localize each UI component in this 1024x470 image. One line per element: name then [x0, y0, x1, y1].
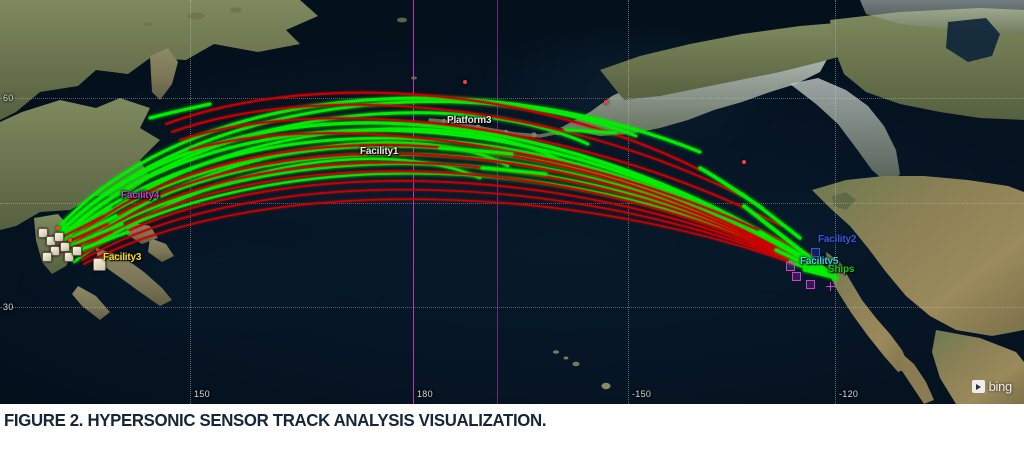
sensor-box-marker[interactable] [792, 272, 801, 281]
label-facility2[interactable]: Facility2 [818, 234, 856, 245]
label-platform3[interactable]: Platform3 [447, 115, 491, 126]
bing-attribution[interactable]: bing [972, 379, 1012, 394]
figure-caption: FIGURE 2. HYPERSONIC SENSOR TRACK ANALYS… [4, 410, 546, 431]
ships-marker[interactable] [826, 282, 835, 291]
label-ships[interactable]: Ships [828, 264, 854, 275]
track-origin-dot[interactable] [68, 238, 72, 242]
label-facility1[interactable]: Facility1 [360, 146, 398, 157]
launch-site-marker[interactable] [54, 232, 64, 242]
launch-site-marker[interactable] [72, 246, 82, 256]
track-waypoint-dot[interactable] [742, 160, 746, 164]
figure-container: 150 180 -150 -120 60 30 [0, 0, 1024, 470]
track-origin-dot[interactable] [56, 226, 60, 230]
sensor-box-marker[interactable] [806, 280, 815, 289]
track-waypoint-dot[interactable] [604, 100, 608, 104]
label-facility3[interactable]: Facility3 [103, 252, 141, 263]
launch-site-marker[interactable] [42, 252, 52, 262]
launch-site-marker[interactable] [60, 242, 70, 252]
figure-caption-bar: FIGURE 2. HYPERSONIC SENSOR TRACK ANALYS… [0, 404, 1024, 470]
bing-logo-icon [972, 380, 985, 393]
landmass-layer [0, 0, 1024, 404]
facility5-marker[interactable] [786, 262, 795, 271]
map-viewport[interactable]: 150 180 -150 -120 60 30 [0, 0, 1024, 404]
track-waypoint-dot[interactable] [463, 80, 467, 84]
label-facility4[interactable]: Facility4 [121, 190, 159, 201]
bing-logo-text: bing [989, 379, 1012, 394]
